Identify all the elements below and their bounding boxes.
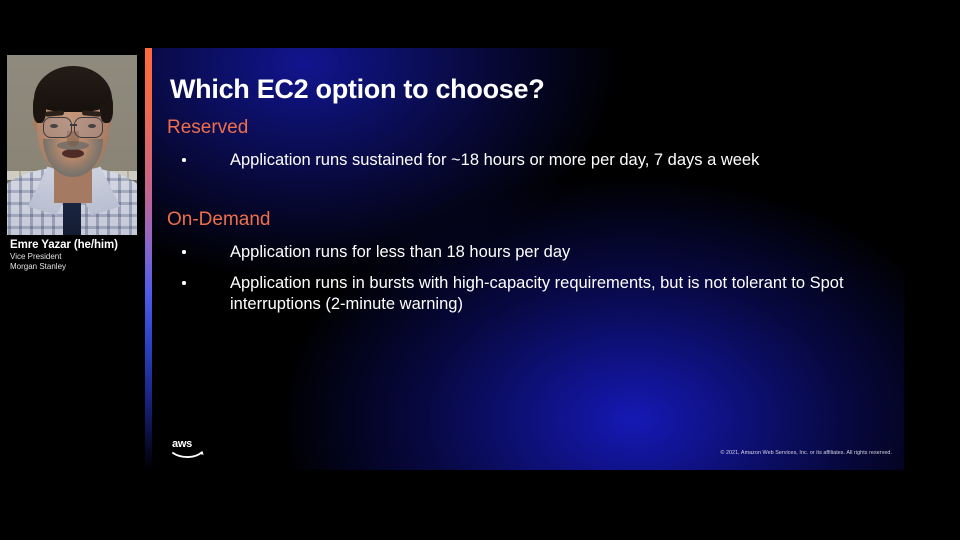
bullet-list-on-demand: Application runs for less than 18 hours … — [167, 242, 886, 315]
list-item: Application runs sustained for ~18 hours… — [167, 150, 886, 171]
section-reserved: Reserved Application runs sustained for … — [167, 116, 886, 171]
section-on-demand: On-Demand Application runs for less than… — [167, 208, 886, 315]
eyeglass-lens-right — [74, 117, 103, 138]
section-heading-on-demand: On-Demand — [167, 208, 886, 232]
speaker-organization: Morgan Stanley — [10, 262, 137, 272]
speaker-video-panel[interactable]: Emre Yazar (he/him) Vice President Morga… — [7, 55, 137, 279]
slide-content: Which EC2 option to choose? Reserved App… — [145, 48, 904, 470]
bullet-dot-icon — [182, 281, 186, 285]
aws-logo-icon: aws — [171, 436, 205, 458]
speaker-role: Vice President — [10, 252, 137, 262]
eyeglass-bridge — [70, 124, 77, 126]
speaker-name: Emre Yazar (he/him) — [10, 239, 137, 252]
eyeglasses — [37, 117, 109, 137]
speaker-name-label: Emre Yazar (he/him) Vice President Morga… — [7, 235, 137, 279]
presentation-stage: Emre Yazar (he/him) Vice President Morga… — [0, 0, 960, 540]
bullet-text: Application runs in bursts with high-cap… — [230, 274, 844, 313]
speaker-mouth — [62, 149, 84, 158]
bullet-text: Application runs for less than 18 hours … — [230, 243, 570, 261]
webcam-video-feed[interactable] — [7, 55, 137, 235]
presentation-slide: Which EC2 option to choose? Reserved App… — [145, 48, 904, 470]
bullet-list-reserved: Application runs sustained for ~18 hours… — [167, 150, 886, 171]
list-item: Application runs for less than 18 hours … — [167, 242, 886, 263]
page-title: Which EC2 option to choose? — [170, 74, 544, 105]
bullet-dot-icon — [182, 158, 186, 162]
copyright-notice: © 2021, Amazon Web Services, Inc. or its… — [720, 450, 892, 456]
section-heading-reserved: Reserved — [167, 116, 886, 140]
list-item: Application runs in bursts with high-cap… — [167, 273, 886, 315]
svg-text:aws: aws — [172, 438, 192, 450]
bullet-dot-icon — [182, 250, 186, 254]
bullet-text: Application runs sustained for ~18 hours… — [230, 151, 759, 169]
eyeglass-lens-left — [43, 117, 72, 138]
